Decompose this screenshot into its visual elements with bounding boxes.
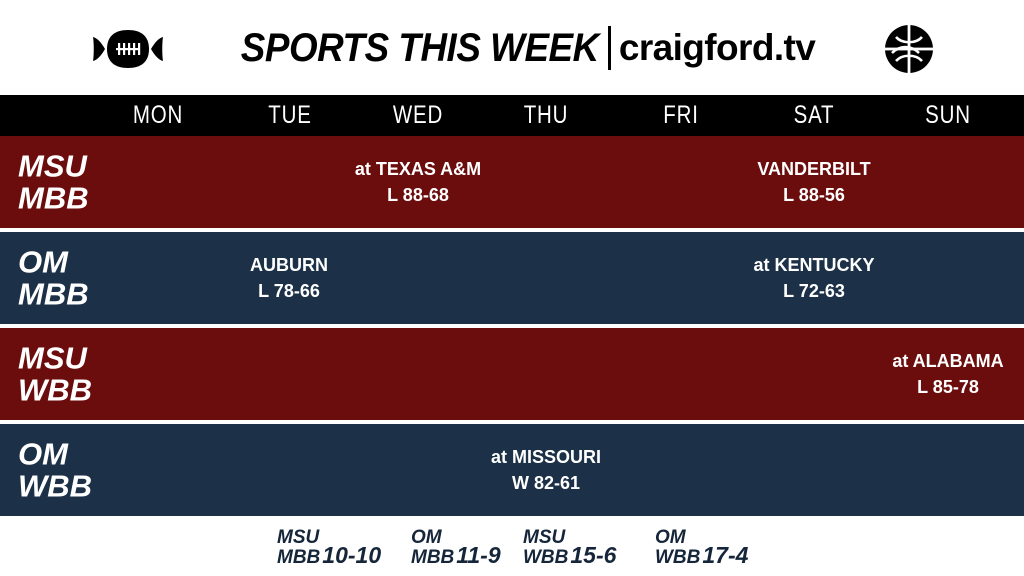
game-cell: AUBURN L 78-66 [169,252,409,304]
record-item: OM MBB 11-9 [411,528,501,568]
football-icon [93,29,163,69]
team-line-2: WBB [18,374,92,406]
record-team-label: MSU WBB [523,528,568,568]
game-cell: at MISSOURI W 82-61 [426,444,666,496]
record-team-line-2: WBB [523,548,568,568]
day-header-sat: SAT [765,95,863,136]
game-cell: at KENTUCKY L 72-63 [694,252,934,304]
day-header-fri: FRI [632,95,730,136]
game-cell: at ALABAMA L 85-78 [828,348,1024,400]
record-item: MSU WBB 15-6 [523,528,616,568]
game-cell: at TEXAS A&M L 88-68 [298,156,538,208]
header-bar: SPORTS THIS WEEK craigford.tv [0,0,1024,95]
page-title: SPORTS THIS WEEK [241,28,606,68]
record-team-line-1: OM [655,528,700,548]
title-divider [608,26,611,70]
record-team-line-1: MSU [277,528,320,548]
game-result: L 88-68 [298,182,538,208]
day-header-wed: WED [369,95,467,136]
team-line-2: MBB [18,278,89,310]
record-team-line-2: MBB [411,548,454,568]
records-footer: MSU MBB 10-10 OM MBB 11-9 MSU WBB 15-6 O… [0,518,1024,576]
record-value: 17-4 [700,544,748,568]
row-team-label: OM MBB [18,246,89,309]
game-result: W 82-61 [426,470,666,496]
day-header-sun: SUN [899,95,997,136]
game-result: L 78-66 [169,278,409,304]
team-line-2: MBB [18,182,89,214]
day-header-mon: MON [109,95,207,136]
game-opponent: VANDERBILT [694,156,934,182]
record-value: 15-6 [568,544,616,568]
row-team-label: OM WBB [18,438,92,501]
record-value: 11-9 [454,544,500,568]
record-value: 10-10 [320,544,381,568]
row-team-label: MSU WBB [18,342,92,405]
table-row: OM WBB at MISSOURI W 82-61 [0,424,1024,516]
day-header-thu: THU [497,95,595,136]
game-opponent: at MISSOURI [426,444,666,470]
game-opponent: AUBURN [169,252,409,278]
day-header-bar: MON TUE WED THU FRI SAT SUN [0,95,1024,136]
record-team-line-2: WBB [655,548,700,568]
team-line-1: MSU [18,342,92,374]
record-team-line-2: MBB [277,548,320,568]
table-row: MSU WBB at ALABAMA L 85-78 [0,328,1024,420]
record-team-label: OM WBB [655,528,700,568]
record-team-line-1: OM [411,528,454,548]
day-header-tue: TUE [241,95,339,136]
record-team-label: MSU MBB [277,528,320,568]
sports-schedule-graphic: SPORTS THIS WEEK craigford.tv MON TUE WE… [0,0,1024,576]
team-line-2: WBB [18,470,92,502]
basketball-icon [884,24,934,74]
game-opponent: at TEXAS A&M [298,156,538,182]
team-line-1: OM [18,246,89,278]
record-team-line-1: MSU [523,528,568,548]
team-line-1: MSU [18,150,89,182]
row-team-label: MSU MBB [18,150,89,213]
team-line-1: OM [18,438,92,470]
game-cell: VANDERBILT L 88-56 [694,156,934,208]
game-result: L 85-78 [828,374,1024,400]
title-block: SPORTS THIS WEEK craigford.tv [209,0,815,95]
record-item: MSU MBB 10-10 [277,528,381,568]
table-row: MSU MBB at TEXAS A&M L 88-68 VANDERBILT … [0,136,1024,228]
record-team-label: OM MBB [411,528,454,568]
site-brand: craigford.tv [619,29,815,66]
record-item: OM WBB 17-4 [655,528,748,568]
game-opponent: at ALABAMA [828,348,1024,374]
table-row: OM MBB AUBURN L 78-66 at KENTUCKY L 72-6… [0,232,1024,324]
game-opponent: at KENTUCKY [694,252,934,278]
game-result: L 88-56 [694,182,934,208]
game-result: L 72-63 [694,278,934,304]
